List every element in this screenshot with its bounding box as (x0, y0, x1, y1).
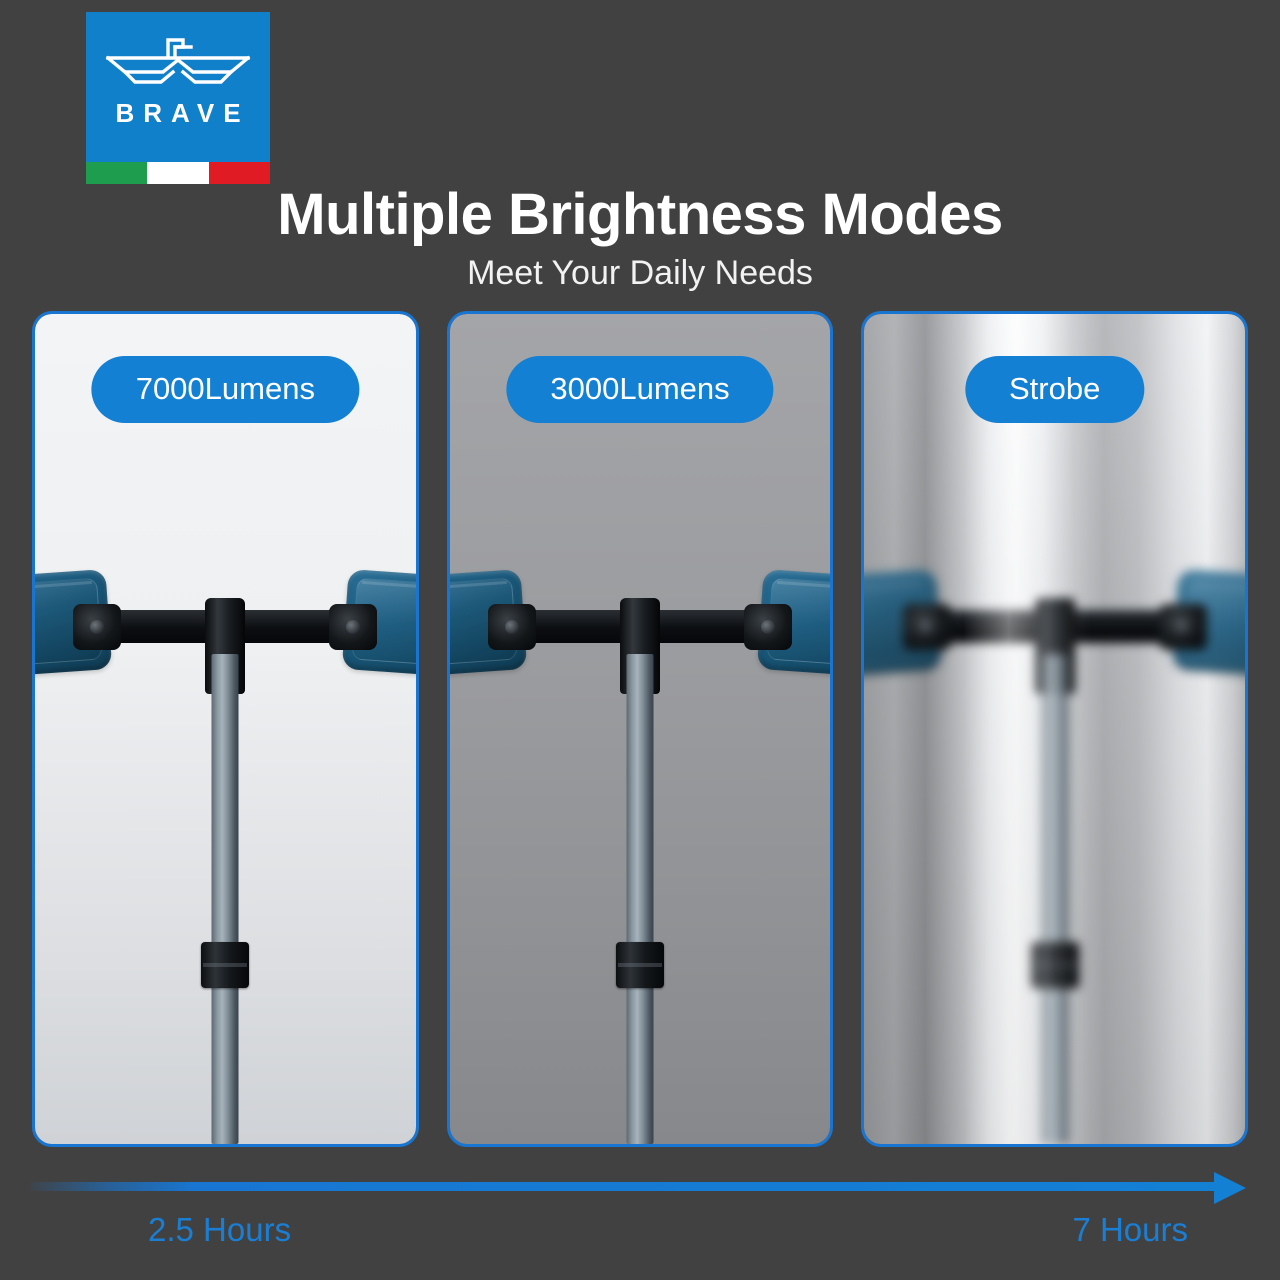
mode-panel-3000-lumens: 3000Lumens (447, 311, 834, 1147)
telescoping-pole (1041, 654, 1068, 1144)
runtime-timeline-arrow (30, 1178, 1246, 1194)
mode-panel-7000-lumens: 7000Lumens (32, 311, 419, 1147)
brightness-mode-panels: 7000Lumens 3000Lumens (32, 311, 1248, 1147)
flag-stripe-white (147, 162, 208, 184)
flag-stripe-green (86, 162, 147, 184)
page-subtitle: Meet Your Daily Needs (0, 255, 1280, 292)
pivot-knuckle-left (903, 604, 951, 650)
telescoping-pole (627, 654, 654, 1144)
pole-twist-lock-collar (616, 942, 664, 988)
brand-logo-background: BRAVE (86, 12, 270, 162)
brand-wordmark: BRAVE (86, 100, 270, 126)
badge-mode-label: Strobe (965, 356, 1144, 423)
badge-mode-label: 3000Lumens (506, 356, 773, 423)
brand-logo-block: BRAVE (86, 12, 270, 184)
pivot-knuckle-left (488, 604, 536, 650)
flag-stripe-red (209, 162, 270, 184)
mode-panel-strobe: Strobe (861, 311, 1248, 1147)
runtime-label-min: 2.5 Hours (148, 1212, 291, 1248)
pivot-knuckle-right (329, 604, 377, 650)
brave-winged-ship-logo-icon (105, 34, 251, 96)
timeline-line (30, 1182, 1216, 1191)
pivot-knuckle-right (744, 604, 792, 650)
telescoping-pole (212, 654, 239, 1144)
page-title: Multiple Brightness Modes (0, 184, 1280, 247)
pole-twist-lock-collar (201, 942, 249, 988)
runtime-label-max: 7 Hours (1072, 1212, 1188, 1248)
product-photo-dual-led-light (864, 314, 1245, 1144)
product-photo-dual-led-light (35, 314, 416, 1144)
badge-mode-label: 7000Lumens (92, 356, 359, 423)
pole-twist-lock-collar (1031, 942, 1079, 988)
product-photo-dual-led-light (450, 314, 831, 1144)
pivot-knuckle-left (73, 604, 121, 650)
marketing-image: BRAVE Multiple Brightness Modes Meet You… (0, 0, 1280, 1280)
pivot-knuckle-right (1159, 604, 1207, 650)
right-arrow-icon (1214, 1172, 1246, 1204)
italian-flag-icon (86, 162, 270, 184)
